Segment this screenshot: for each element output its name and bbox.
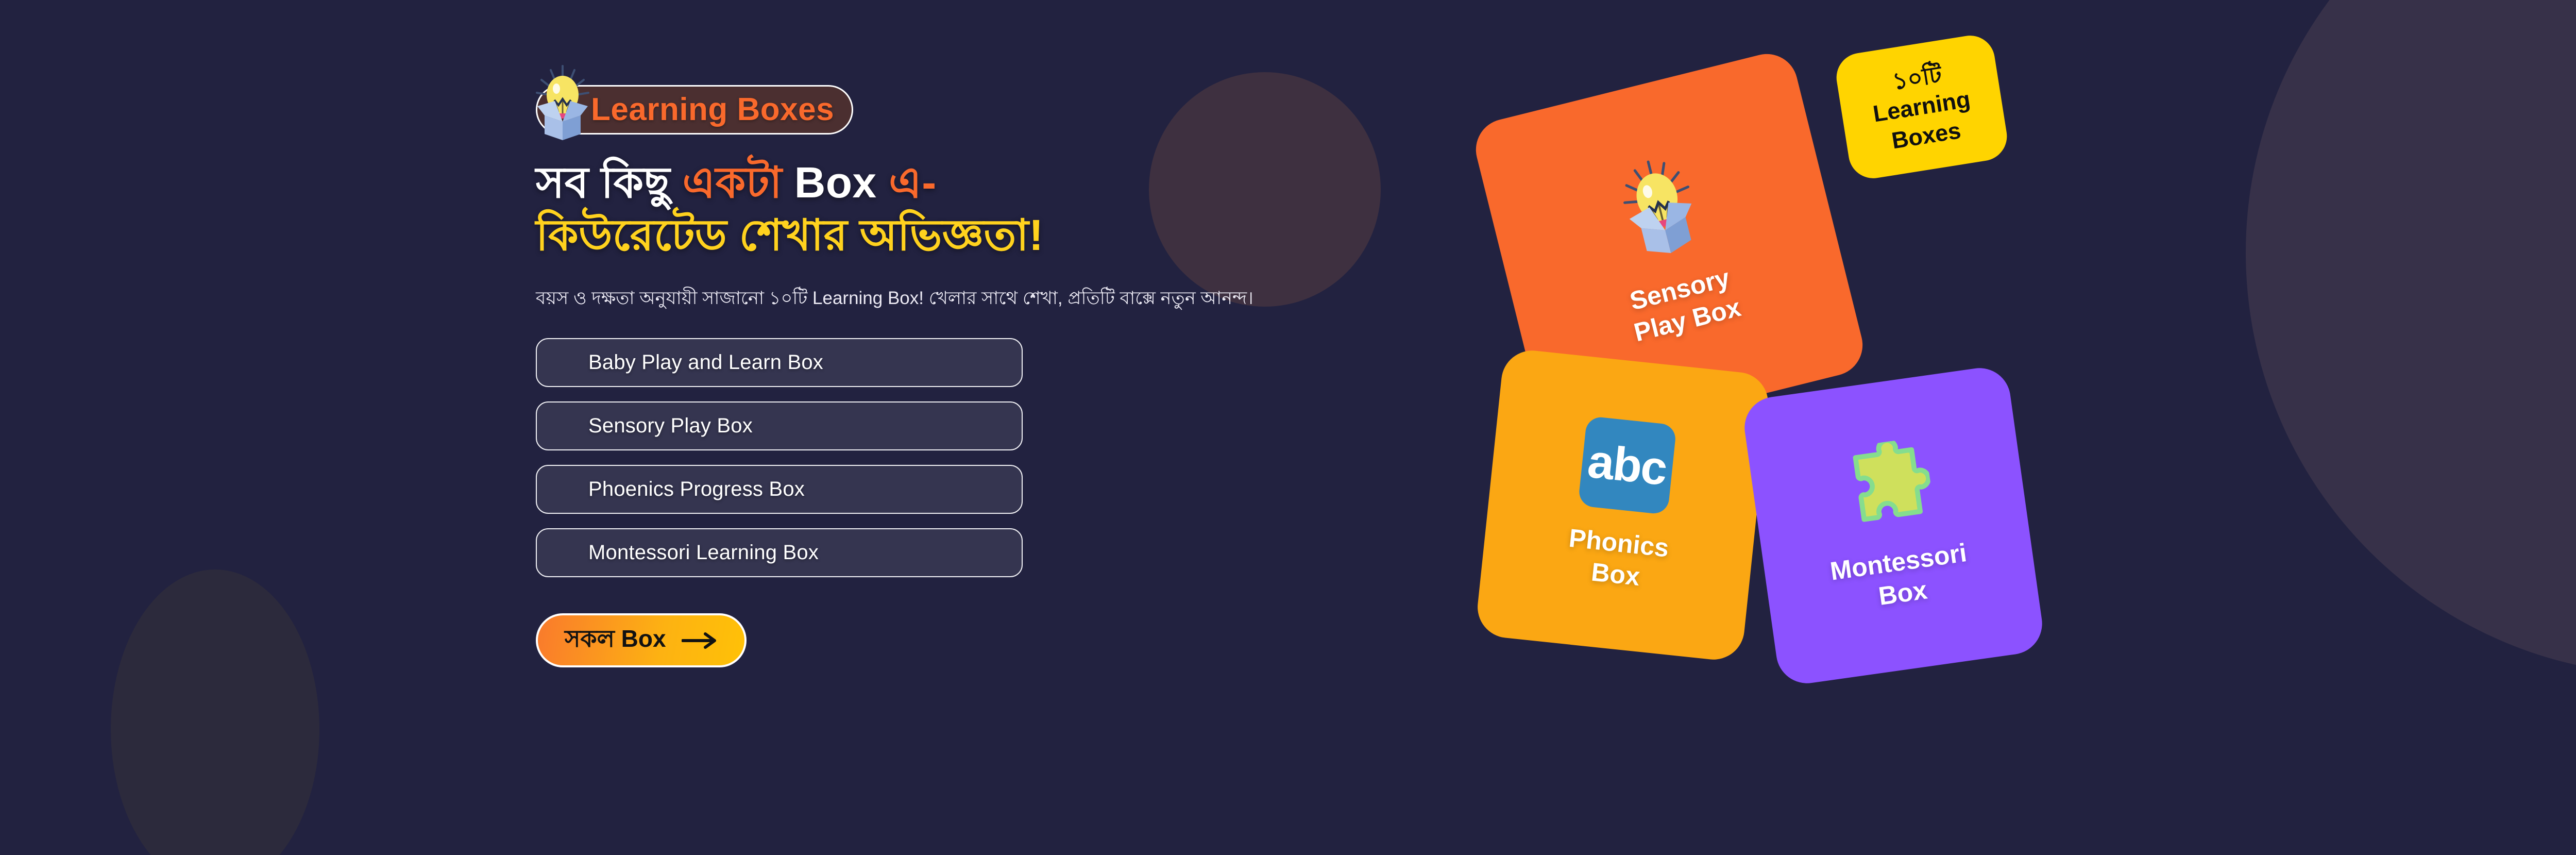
- headline-part-3: Box: [782, 158, 889, 207]
- eyebrow-badge-label: Learning Boxes: [591, 94, 834, 126]
- abc-tile-icon: abc: [1578, 415, 1676, 514]
- card-montessori-box-label: Montessori Box: [1828, 537, 1973, 618]
- learning-boxes-count-badge: ১০টি Learning Boxes: [1833, 32, 2011, 181]
- box-list-item-phoenics-progress[interactable]: Phoenics Progress Box: [536, 465, 1023, 514]
- headline-part-1: সব কিছু: [536, 158, 682, 207]
- box-list: Baby Play and Learn Box Sensory Play Box…: [536, 338, 1412, 577]
- box-cards-illustration: ১০টি Learning Boxes: [1535, 103, 2179, 747]
- card-montessori-box[interactable]: Montessori Box: [1741, 364, 2046, 688]
- hero-section: Learning Boxes সব কিছু একটা Box এ- কিউরে…: [0, 0, 2576, 855]
- card-phonics-box-label: Phonics Box: [1564, 522, 1670, 595]
- card-phonics-box[interactable]: abc Phonics Box: [1475, 347, 1771, 662]
- all-boxes-button[interactable]: সকল Box: [536, 613, 747, 667]
- hero-subtitle: বয়স ও দক্ষতা অনুযায়ী সাজানো ১০টি Learn…: [536, 284, 1350, 312]
- arrow-right-icon: [682, 632, 718, 649]
- headline-part-4: এ-: [889, 158, 936, 207]
- background-circle-bottom-left: [111, 569, 319, 855]
- box-list-item-baby-play-and-learn[interactable]: Baby Play and Learn Box: [536, 338, 1023, 387]
- page-title: সব কিছু একটা Box এ- কিউরেটেড শেখার অভিজ্…: [536, 156, 1412, 262]
- lightbulb-in-box-icon: [529, 64, 596, 141]
- puzzle-piece-icon: [1840, 437, 1936, 535]
- all-boxes-button-label: সকল Box: [565, 621, 666, 660]
- learning-boxes-count-badge-text: ১০টি Learning Boxes: [1867, 56, 1977, 157]
- eyebrow-badge: Learning Boxes: [536, 85, 853, 135]
- headline-part-2: একটা: [682, 158, 782, 207]
- box-list-item-sensory-play[interactable]: Sensory Play Box: [536, 401, 1023, 450]
- hero-content: Learning Boxes সব কিছু একটা Box এ- কিউরে…: [536, 85, 1412, 667]
- card-sensory-play-box-label: Sensory Play Box: [1623, 261, 1744, 348]
- lightbulb-in-box-icon: [1606, 149, 1713, 267]
- headline-line-2: কিউরেটেড শেখার অভিজ্ঞতা!: [536, 209, 1412, 261]
- box-list-item-montessori-learning[interactable]: Montessori Learning Box: [536, 528, 1023, 577]
- background-circle-right: [2246, 0, 2576, 675]
